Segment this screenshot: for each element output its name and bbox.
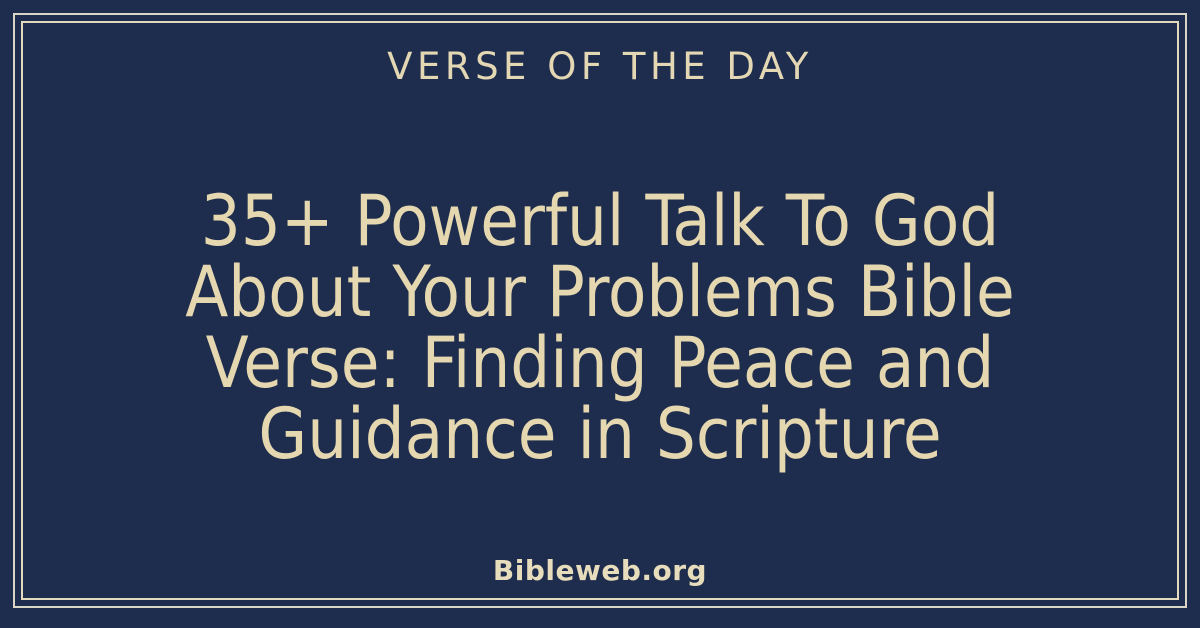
title-line-2: About Your Problems Bible	[95, 257, 1105, 328]
card-content: VERSE OF THE DAY 35+ Powerful Talk To Go…	[0, 0, 1200, 628]
title-line-3: Verse: Finding Peace and	[95, 328, 1105, 399]
site-attribution: Bibleweb.org	[0, 554, 1200, 588]
eyebrow-label: VERSE OF THE DAY	[387, 48, 813, 85]
verse-of-the-day-card: VERSE OF THE DAY 35+ Powerful Talk To Go…	[0, 0, 1200, 628]
title-line-4: Guidance in Scripture	[95, 399, 1105, 470]
title-line-1: 35+ Powerful Talk To God	[95, 186, 1105, 257]
page-title: 35+ Powerful Talk To God About Your Prob…	[95, 186, 1105, 470]
